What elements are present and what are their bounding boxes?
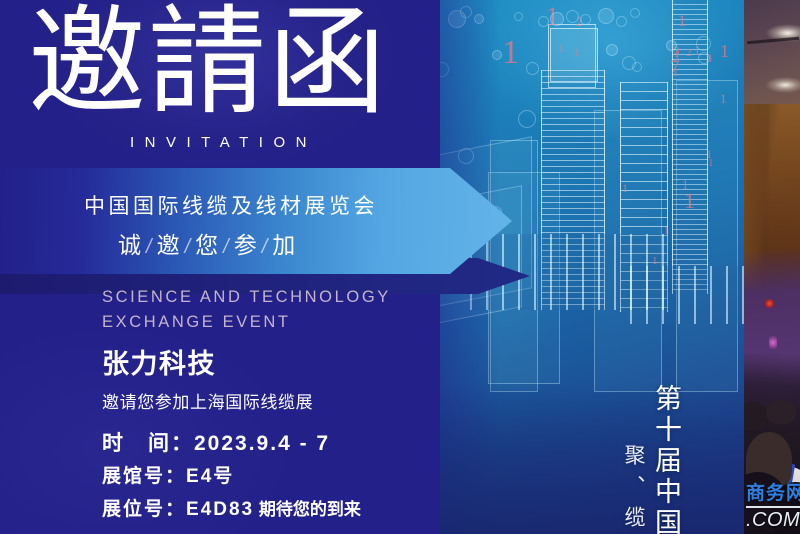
bubble-circle bbox=[606, 44, 618, 56]
photo-ceiling-lights bbox=[744, 0, 800, 118]
bubble-circle bbox=[696, 36, 711, 51]
bubble-circle bbox=[550, 12, 564, 26]
bubble-circle bbox=[698, 52, 710, 64]
detail-note: 期待您的到来 bbox=[254, 500, 361, 519]
banner-invite-char: 您 bbox=[195, 232, 220, 258]
banner-invite-char: 参 bbox=[234, 232, 259, 258]
headline-chinese: 邀請函 bbox=[28, 2, 428, 128]
vertical-title: 第十届中国国际 bbox=[647, 384, 686, 534]
bubble-circle bbox=[518, 110, 536, 128]
company-name: 张力科技 bbox=[102, 342, 216, 381]
banner-invite-char: 邀 bbox=[157, 232, 182, 258]
detail-date: 时 间：2023.9.4 - 7 bbox=[102, 427, 330, 457]
audience-head bbox=[766, 400, 796, 424]
photo-pink-light bbox=[769, 336, 777, 349]
english-subtitle-line2: EXCHANGE EVENT bbox=[102, 313, 291, 332]
invitation-poster: 1 1 1 2 1 7 1 3 2 1 1 1 1 3 1 1 1 1 1 1 … bbox=[0, 0, 800, 534]
bubble-circle bbox=[666, 40, 677, 51]
photo-audience bbox=[744, 354, 800, 534]
detail-value: E4号 bbox=[186, 466, 234, 487]
city-podium bbox=[630, 266, 744, 324]
bubble-circle bbox=[538, 16, 549, 27]
vertical-subtitle: 聚、缆、 bbox=[618, 444, 648, 534]
bubble-circle bbox=[566, 10, 579, 23]
conference-photo-strip bbox=[744, 0, 800, 534]
bubble-circle bbox=[630, 8, 640, 18]
detail-label: 展位号： bbox=[102, 499, 186, 520]
banner-separator: / bbox=[259, 236, 273, 258]
banner-separator: / bbox=[182, 236, 196, 258]
bubble-circle bbox=[580, 14, 591, 25]
bubble-circle bbox=[598, 8, 614, 24]
headline-english: INVITATION bbox=[130, 134, 317, 151]
bubble-circle bbox=[526, 62, 539, 75]
bubble-circle bbox=[616, 16, 627, 27]
detail-label: 展馆号： bbox=[102, 466, 186, 487]
banner-invite-char: 诚 bbox=[118, 232, 143, 258]
bubble-circle bbox=[632, 62, 642, 72]
exhibition-banner: 中国国际线缆及线材展览会 诚/邀/您/参/加 bbox=[0, 168, 512, 274]
detail-value: E4D83 bbox=[186, 499, 254, 520]
city-bottom-fade bbox=[430, 384, 744, 534]
banner-invite-phrase: 诚/邀/您/参/加 bbox=[118, 226, 297, 260]
english-subtitle-line1: SCIENCE AND TECHNOLOGY bbox=[102, 288, 391, 307]
banner-invite-char: 加 bbox=[272, 232, 297, 258]
detail-hall: 展馆号：E4号 bbox=[102, 461, 234, 488]
banner-separator: / bbox=[143, 236, 157, 258]
detail-booth: 展位号：E4D83 期待您的到来 bbox=[102, 494, 361, 521]
invite-tagline: 邀请您参加上海国际线缆展 bbox=[102, 388, 313, 413]
banner-separator: / bbox=[220, 236, 234, 258]
audience-head bbox=[744, 402, 768, 430]
bubble-circle bbox=[514, 12, 523, 21]
detail-label: 时 间： bbox=[102, 432, 194, 455]
detail-value: 2023.9.4 - 7 bbox=[194, 432, 330, 455]
banner-exhibition-name: 中国国际线缆及线材展览会 bbox=[84, 190, 378, 220]
